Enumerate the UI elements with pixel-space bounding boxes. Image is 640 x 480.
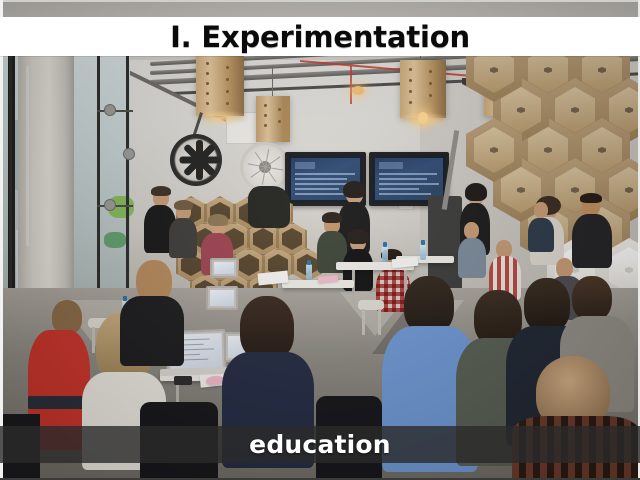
pendant-lamp bbox=[400, 60, 446, 118]
lamp-cord bbox=[272, 66, 273, 96]
green-object bbox=[104, 232, 126, 248]
laptop-screen bbox=[210, 290, 234, 306]
presentation-slide: I. Experimentation education bbox=[0, 0, 640, 480]
bicycle-wheel-clock bbox=[240, 142, 290, 192]
glass-fitting bbox=[123, 148, 135, 160]
laptop bbox=[210, 258, 238, 278]
pendant-lamp bbox=[196, 54, 244, 116]
photo-frame-top bbox=[0, 0, 640, 2]
caption-banner: education bbox=[0, 426, 640, 463]
hanging-jacket bbox=[248, 186, 290, 228]
slide-caption: education bbox=[0, 426, 640, 463]
slide-photo bbox=[0, 0, 640, 480]
slide-title: I. Experimentation bbox=[0, 17, 640, 56]
belt bbox=[28, 396, 90, 409]
title-banner: I. Experimentation bbox=[0, 17, 640, 56]
spotlight-bulb bbox=[352, 86, 364, 95]
glass-fitting bbox=[104, 104, 116, 116]
glass-fitting bbox=[104, 199, 116, 211]
stool bbox=[358, 300, 384, 310]
smartphone bbox=[174, 376, 192, 385]
wheel-sculpture bbox=[170, 134, 222, 186]
pendant-lamp bbox=[256, 96, 290, 142]
water-bottle bbox=[382, 246, 388, 262]
red-cable-drop bbox=[350, 66, 352, 104]
laptop bbox=[206, 286, 238, 310]
photo-frame-left bbox=[0, 0, 3, 480]
water-bottle bbox=[420, 244, 426, 260]
laptop-screen bbox=[214, 262, 234, 274]
water-bottle bbox=[306, 264, 312, 280]
lamp-bulb bbox=[418, 112, 428, 124]
lamp-perforations bbox=[196, 54, 244, 116]
lamp-perforations bbox=[256, 96, 290, 142]
screen-content bbox=[375, 158, 443, 200]
lamp-perforations bbox=[400, 60, 446, 118]
